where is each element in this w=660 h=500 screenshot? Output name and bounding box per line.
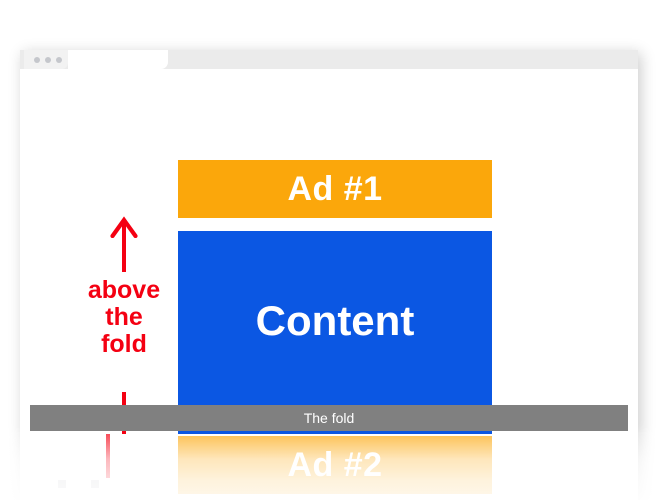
above-the-fold-label: above the fold xyxy=(62,277,186,358)
the-fold-bar: The fold xyxy=(30,405,628,431)
above-the-fold-line-1: above xyxy=(62,277,186,304)
ad-banner-top-label: Ad #1 xyxy=(287,172,382,206)
content-block-label: Content xyxy=(256,300,415,342)
window-maximize-dot-icon[interactable] xyxy=(56,57,62,63)
window-controls xyxy=(24,50,68,69)
above-the-fold-line-3: fold xyxy=(62,331,186,358)
below-fold-dot-icon xyxy=(91,480,99,488)
browser-tab-active[interactable] xyxy=(68,50,168,69)
browser-chrome-bar xyxy=(20,50,638,69)
ad-banner-bottom-label: Ad #2 xyxy=(287,448,382,482)
browser-window: Ad #1 Content above the fold xyxy=(20,50,638,434)
above-the-fold-line-2: the xyxy=(62,304,186,331)
content-block[interactable]: Content xyxy=(178,231,492,434)
annotation-arrow-stem xyxy=(122,219,126,272)
below-fold-dot-icon xyxy=(58,480,66,488)
window-minimize-dot-icon[interactable] xyxy=(45,57,51,63)
the-fold-label: The fold xyxy=(304,411,355,425)
annotation-line-below-fold xyxy=(106,434,110,478)
diagram-canvas: Ad #1 Content above the fold xyxy=(0,0,660,500)
window-close-dot-icon[interactable] xyxy=(34,57,40,63)
below-the-fold-content: Ad #2 xyxy=(0,434,660,500)
below-the-fold-region: Ad #2 xyxy=(0,434,660,500)
ad-banner-top[interactable]: Ad #1 xyxy=(178,160,492,218)
ad-banner-bottom[interactable]: Ad #2 xyxy=(178,436,492,494)
browser-viewport: Ad #1 Content above the fold xyxy=(20,69,638,434)
